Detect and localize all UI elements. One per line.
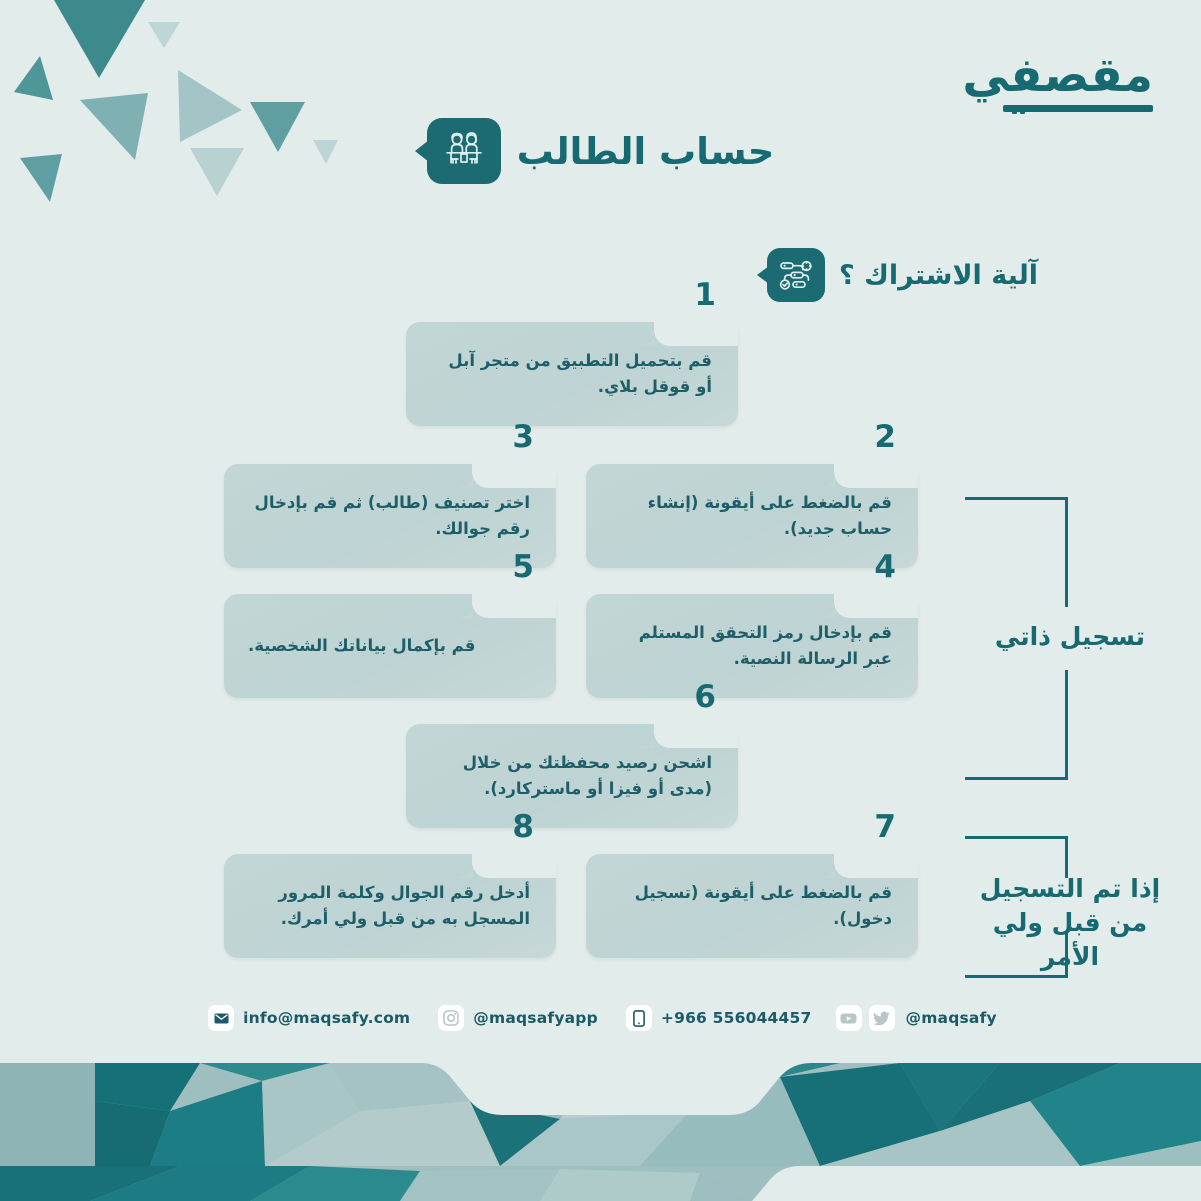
twitter-icon[interactable] xyxy=(869,1005,895,1031)
step-text: قم بإدخال رمز التحقق المستلم عبر الرسالة… xyxy=(586,594,918,698)
brand-logo: مقصفي xyxy=(962,52,1153,112)
step-card-2: 2 قم بالضغط على أيقونة (إنشاء حساب جديد)… xyxy=(586,464,918,568)
phone-label: +966 556044457 xyxy=(661,1009,812,1027)
contact-instagram[interactable]: @maqsafyapp xyxy=(438,1005,598,1031)
mobile-phone-icon xyxy=(626,1005,652,1031)
step-card-4: 4 قم بإدخال رمز التحقق المستلم عبر الرسا… xyxy=(586,594,918,698)
step-number: 5 xyxy=(512,552,534,583)
contact-phone[interactable]: +966 556044457 xyxy=(626,1005,812,1031)
process-flow-icon xyxy=(767,248,825,302)
decorative-triangles xyxy=(0,0,360,220)
social-handle-label: @maqsafy xyxy=(906,1009,997,1027)
step-number: 1 xyxy=(694,280,716,311)
group-label-self-registration: تسجيل ذاتي xyxy=(985,620,1155,654)
step-number: 8 xyxy=(512,812,534,843)
subscription-mechanism-row: آلية الاشتراك ؟ xyxy=(767,248,1038,302)
step-text: قم بتحميل التطبيق من متجر آبل أو قوقل بل… xyxy=(406,322,738,426)
step-number: 6 xyxy=(694,682,716,713)
contact-social[interactable]: @maqsafy xyxy=(836,1005,997,1031)
email-label: info@maqsafy.com xyxy=(243,1009,410,1027)
logo-underline xyxy=(1003,105,1153,112)
subscription-mechanism-title: آلية الاشتراك ؟ xyxy=(839,260,1038,291)
step-card-8: 8 أدخل رقم الجوال وكلمة المرور المسجل به… xyxy=(224,854,556,958)
step-number: 2 xyxy=(874,422,896,453)
step-text: اشحن رصيد محفظتك من خلال (مدى أو فيزا أو… xyxy=(406,724,738,828)
infographic-canvas: مقصفي حساب الطالب آلية الاشتراك ؟ xyxy=(0,0,1201,1201)
step-card-7: 7 قم بالضغط على أيقونة (تسجيل دخول). xyxy=(586,854,918,958)
brand-logo-text: مقصفي xyxy=(962,52,1153,99)
instagram-label: @maqsafyapp xyxy=(473,1009,598,1027)
logo-dots xyxy=(1012,107,1025,114)
email-icon xyxy=(208,1005,234,1031)
group-label-guardian-registration: إذا تم التسجيل من قبل ولي الأمر xyxy=(975,872,1165,973)
youtube-icon[interactable] xyxy=(836,1005,862,1031)
step-card-3: 3 اختر تصنيف (طالب) ثم قم بإدخال رقم جوا… xyxy=(224,464,556,568)
bottom-polygon-band xyxy=(0,1041,1201,1201)
step-number: 4 xyxy=(874,552,896,583)
contact-email[interactable]: info@maqsafy.com xyxy=(208,1005,410,1031)
step-text: قم بإكمال بياناتك الشخصية. xyxy=(224,594,556,698)
step-number: 3 xyxy=(512,422,534,453)
step-text: قم بالضغط على أيقونة (إنشاء حساب جديد). xyxy=(586,464,918,568)
page-title-row: حساب الطالب xyxy=(0,118,1201,184)
step-text: قم بالضغط على أيقونة (تسجيل دخول). xyxy=(586,854,918,958)
step-text: اختر تصنيف (طالب) ثم قم بإدخال رقم جوالك… xyxy=(224,464,556,568)
step-card-5: 5 قم بإكمال بياناتك الشخصية. xyxy=(224,594,556,698)
students-at-desk-icon xyxy=(427,118,501,184)
page-title: حساب الطالب xyxy=(517,130,775,173)
instagram-icon xyxy=(438,1005,464,1031)
step-card-1: 1 قم بتحميل التطبيق من متجر آبل أو قوقل … xyxy=(406,322,738,426)
step-text: أدخل رقم الجوال وكلمة المرور المسجل به م… xyxy=(224,854,556,958)
step-number: 7 xyxy=(874,812,896,843)
step-card-6: 6 اشحن رصيد محفظتك من خلال (مدى أو فيزا … xyxy=(406,724,738,828)
contact-footer: info@maqsafy.com @maqsafyapp +966 556044… xyxy=(0,1005,1201,1031)
